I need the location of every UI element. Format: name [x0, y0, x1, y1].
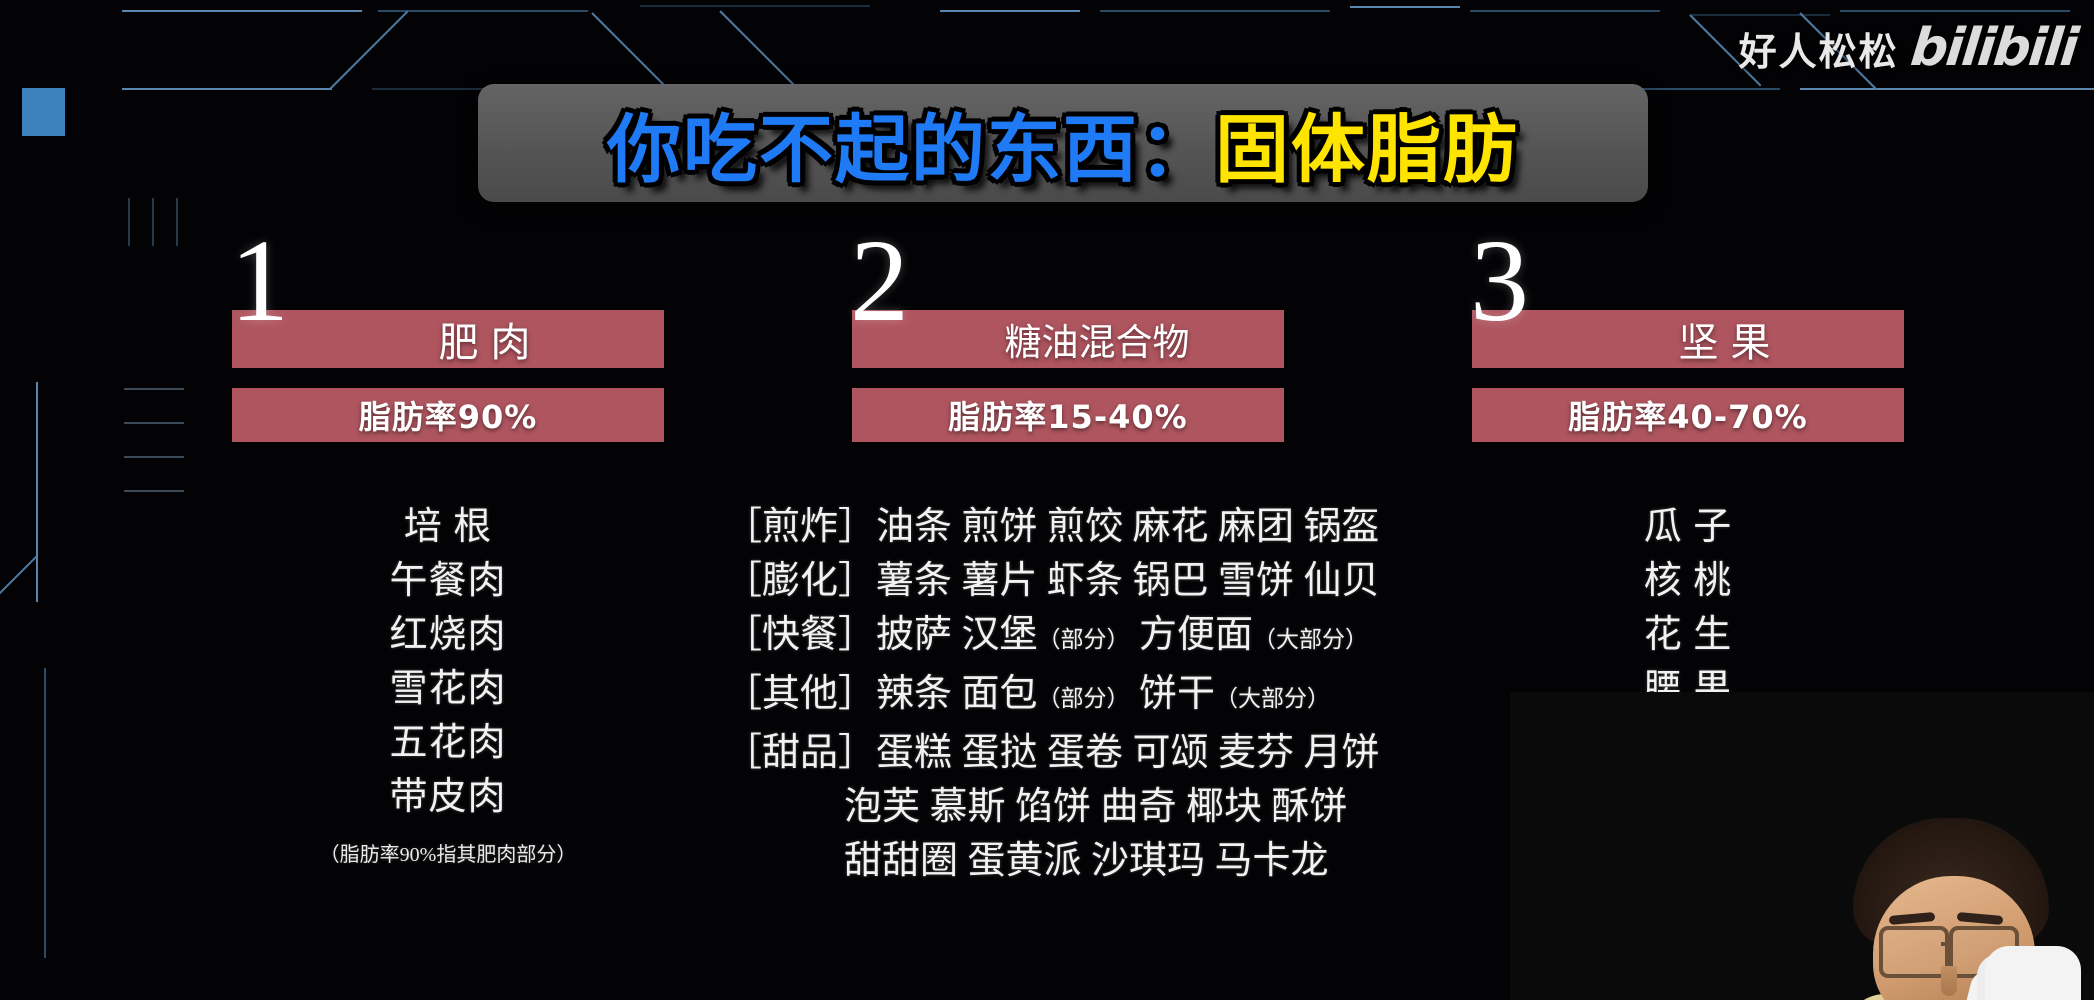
- footnote: （脂肪率90%指其肥肉部分）: [232, 832, 664, 878]
- subcategory-tag: ［快餐］: [724, 614, 876, 656]
- hud-dash: [124, 422, 184, 424]
- list-item: ［甜品］蛋糕 蛋挞 蛋卷 可颂 麦芬 月饼: [724, 726, 1444, 780]
- hud-diagonal: [591, 12, 669, 90]
- fat-rate-label: 脂肪率90%: [359, 392, 538, 438]
- hud-line: [1470, 10, 1660, 12]
- subcategory-tag: ［其他］: [724, 673, 876, 715]
- fat-rate-bar: 脂肪率40-70%: [1472, 388, 1904, 442]
- hud-line: [1100, 10, 1330, 12]
- subcategory-tag: ［甜品］: [724, 732, 876, 774]
- qualifier-note: （大部分）: [1253, 627, 1368, 652]
- hud-line: [1350, 6, 1460, 8]
- category-column-1: 1 肥 肉 脂肪率90% 培 根 午餐肉 红烧肉 雪花肉 五花肉 带皮肉 （脂肪…: [232, 250, 664, 450]
- rank-number: 1: [230, 222, 289, 340]
- category-name-bar: 坚 果: [1472, 310, 1904, 368]
- list-item: 甜甜圈 蛋黄派 沙琪玛 马卡龙: [724, 834, 1444, 888]
- list-item: 瓜 子: [1472, 500, 1904, 554]
- list-item: 五花肉: [232, 716, 664, 770]
- category-header-1: 1 肥 肉 脂肪率90%: [232, 250, 664, 450]
- list-item: ［其他］辣条 面包（部分） 饼干（大部分）: [724, 667, 1444, 726]
- hud-diagonal: [0, 555, 38, 621]
- subcategory-items: 辣条 面包: [876, 673, 1038, 715]
- list-item: 泡芙 慕斯 馅饼 曲奇 椰块 酥饼: [724, 780, 1444, 834]
- category-name: 肥 肉: [365, 310, 532, 368]
- hud-line: [640, 5, 870, 7]
- title-highlight: 固体脂肪: [1215, 90, 1519, 197]
- list-item: 红烧肉: [232, 608, 664, 662]
- fat-rate-bar: 脂肪率15-40%: [852, 388, 1284, 442]
- glasses-left-lens: [1879, 926, 1949, 978]
- subcategory-items-extra: 饼干: [1139, 673, 1215, 715]
- streamer-facecam: [1845, 818, 2094, 1000]
- subcategory-items: 甜甜圈 蛋黄派 沙琪玛 马卡龙: [844, 840, 1329, 882]
- subcategory-items: 蛋糕 蛋挞 蛋卷 可颂 麦芬 月饼: [876, 732, 1380, 774]
- category-column-3: 3 坚 果 脂肪率40-70% 瓜 子 核 桃 花 生 腰 果 巴旦木 扁桃仁 …: [1472, 250, 1904, 450]
- list-item: 核 桃: [1472, 554, 1904, 608]
- subcategory-items: 泡芙 慕斯 馅饼 曲奇 椰块 酥饼: [844, 786, 1348, 828]
- page-title: 你吃不起的东西：固体脂肪: [478, 84, 1648, 202]
- hud-tick: [128, 198, 130, 246]
- fat-rate-label: 脂肪率40-70%: [1568, 392, 1807, 438]
- subcategory-items: 披萨 汉堡: [876, 614, 1038, 656]
- category-name-bar: 肥 肉: [232, 310, 664, 368]
- nose: [1941, 966, 1957, 996]
- qualifier-note: （大部分）: [1215, 686, 1330, 711]
- title-prefix: 你吃不起的东西：: [607, 90, 1215, 197]
- subcategory-items-extra: 方便面: [1139, 614, 1253, 656]
- list-item: 花 生: [1472, 608, 1904, 662]
- list-item: ［膨化］薯条 薯片 虾条 锅巴 雪饼 仙贝: [724, 554, 1444, 608]
- hud-accent-square: [22, 88, 65, 136]
- qualifier-note: （部分）: [1038, 627, 1130, 652]
- category-column-2: 2 糖油混合物 脂肪率15-40%: [852, 250, 1284, 450]
- fat-rate-bar: 脂肪率90%: [232, 388, 664, 442]
- hud-diagonal: [329, 11, 408, 90]
- hud-line: [122, 10, 362, 12]
- list-item: ［快餐］披萨 汉堡（部分） 方便面（大部分）: [724, 608, 1444, 667]
- list-item: 午餐肉: [232, 554, 664, 608]
- subcategory-items: 油条 煎饼 煎饺 麻花 麻团 锅盔: [876, 506, 1380, 548]
- list-item: 带皮肉: [232, 770, 664, 824]
- hud-line: [122, 88, 332, 90]
- hud-line: [940, 10, 1080, 12]
- subcategory-tag: ［膨化］: [724, 560, 876, 602]
- hud-line: [1800, 88, 2094, 90]
- hud-line: [1690, 14, 1830, 16]
- fat-rate-label: 脂肪率15-40%: [948, 392, 1187, 438]
- category-name: 坚 果: [1605, 310, 1772, 368]
- list-item: ［煎炸］油条 煎饼 煎饺 麻花 麻团 锅盔: [724, 500, 1444, 554]
- category-header-3: 3 坚 果 脂肪率40-70%: [1472, 250, 1904, 450]
- category-name-bar: 糖油混合物: [852, 310, 1284, 368]
- category-header-2: 2 糖油混合物 脂肪率15-40%: [852, 250, 1284, 450]
- hud-line: [378, 10, 588, 12]
- hud-dash: [124, 388, 184, 390]
- channel-name: 好人松松: [1739, 21, 1899, 76]
- subcategory-items: 薯条 薯片 虾条 锅巴 雪饼 仙贝: [876, 560, 1380, 602]
- bilibili-logo: bilibili: [1907, 18, 2079, 78]
- list-item: 培 根: [232, 500, 664, 554]
- hud-tick: [152, 198, 154, 246]
- item-list-2: ［煎炸］油条 煎饼 煎饺 麻花 麻团 锅盔 ［膨化］薯条 薯片 虾条 锅巴 雪饼…: [724, 500, 1444, 888]
- rank-number: 3: [1470, 222, 1529, 340]
- subcategory-tag: ［煎炸］: [724, 506, 876, 548]
- qualifier-note: （部分）: [1038, 686, 1130, 711]
- rank-number: 2: [850, 222, 909, 340]
- video-frame: 好人松松 bilibili 你吃不起的东西：固体脂肪 1 肥 肉 脂肪率90% …: [0, 0, 2094, 1000]
- hud-vertical: [44, 668, 46, 958]
- hand: [1985, 946, 2081, 1000]
- hud-dash: [124, 456, 184, 458]
- category-name: 糖油混合物: [947, 312, 1190, 366]
- hud-vertical: [36, 382, 38, 602]
- hud-line: [1840, 10, 2070, 12]
- list-item: 雪花肉: [232, 662, 664, 716]
- watermark: 好人松松 bilibili: [1739, 18, 2076, 78]
- hud-dash: [124, 490, 184, 492]
- glasses-bridge: [1941, 942, 1951, 946]
- hud-diagonal: [719, 10, 794, 85]
- item-list-1: 培 根 午餐肉 红烧肉 雪花肉 五花肉 带皮肉 （脂肪率90%指其肥肉部分）: [232, 500, 664, 878]
- hud-tick: [176, 198, 178, 246]
